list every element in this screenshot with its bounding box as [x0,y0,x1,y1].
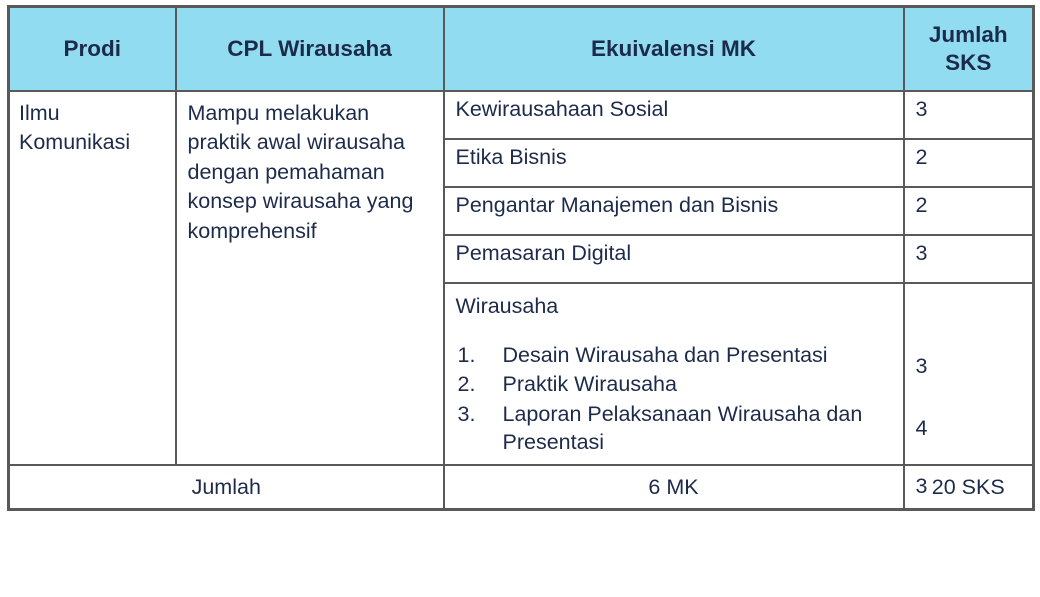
list-item-number: 3. [458,400,488,429]
cell-course-sks: 3 [916,356,928,378]
cell-course-sks: 3 [916,476,928,498]
column-header-cpl: CPL Wirausaha [176,7,444,92]
list-item: 3. Laporan Pelaksanaan Wirausaha dan Pre… [456,400,895,457]
table-container: Prodi CPL Wirausaha Ekuivalensi MK Jumla… [7,5,1032,589]
table-body: Ilmu Komunikasi Mampu melakukan praktik … [9,91,1034,465]
table-header: Prodi CPL Wirausaha Ekuivalensi MK Jumla… [9,7,1034,92]
cell-wirausaha-block: Wirausaha 1. Desain Wirausaha dan Presen… [444,283,904,465]
equivalence-table: Prodi CPL Wirausaha Ekuivalensi MK Jumla… [7,5,1035,511]
cell-prodi: Ilmu Komunikasi [9,91,176,465]
column-header-prodi: Prodi [9,7,176,92]
footer-label: Jumlah [9,465,444,510]
column-header-ekuivalensi-mk: Ekuivalensi MK [444,7,904,92]
column-header-jumlah-sks-line2: SKS [945,50,991,75]
list-item: 2. Praktik Wirausaha [456,370,895,399]
cell-course-sks: 4 [916,418,928,440]
table-footer: Jumlah 6 MK 20 SKS [9,465,1034,510]
footer-row: Jumlah 6 MK 20 SKS [9,465,1034,510]
list-item-label: Laporan Pelaksanaan Wirausaha dan Presen… [503,402,863,455]
cell-course-name: Pemasaran Digital [444,235,904,283]
list-item-number: 2. [458,370,488,399]
list-item-label: Praktik Wirausaha [503,372,677,396]
cell-course-sks: 3 [904,91,1034,139]
cell-course-sks: 3 [904,235,1034,283]
wirausaha-block-title: Wirausaha [456,292,895,321]
cell-cpl: Mampu melakukan praktik awal wirausaha d… [176,91,444,465]
cell-course-sks: 2 [904,139,1034,187]
wirausaha-course-list: 1. Desain Wirausaha dan Presentasi 2. Pr… [456,341,895,457]
list-item-number: 1. [458,341,488,370]
table-row: Ilmu Komunikasi Mampu melakukan praktik … [9,91,1034,139]
cell-course-name: Kewirausahaan Sosial [444,91,904,139]
footer-total-mk: 6 MK [444,465,904,510]
cell-course-sks: 2 [904,187,1034,235]
list-item-label: Desain Wirausaha dan Presentasi [503,343,828,367]
list-item: 1. Desain Wirausaha dan Presentasi [456,341,895,370]
cell-course-name: Pengantar Manajemen dan Bisnis [444,187,904,235]
cell-course-name: Etika Bisnis [444,139,904,187]
header-row: Prodi CPL Wirausaha Ekuivalensi MK Jumla… [9,7,1034,92]
column-header-jumlah-sks-line1: Jumlah [929,22,1008,47]
cell-wirausaha-block-sks: 3 4 3 [904,283,1034,465]
column-header-jumlah-sks: Jumlah SKS [904,7,1034,92]
